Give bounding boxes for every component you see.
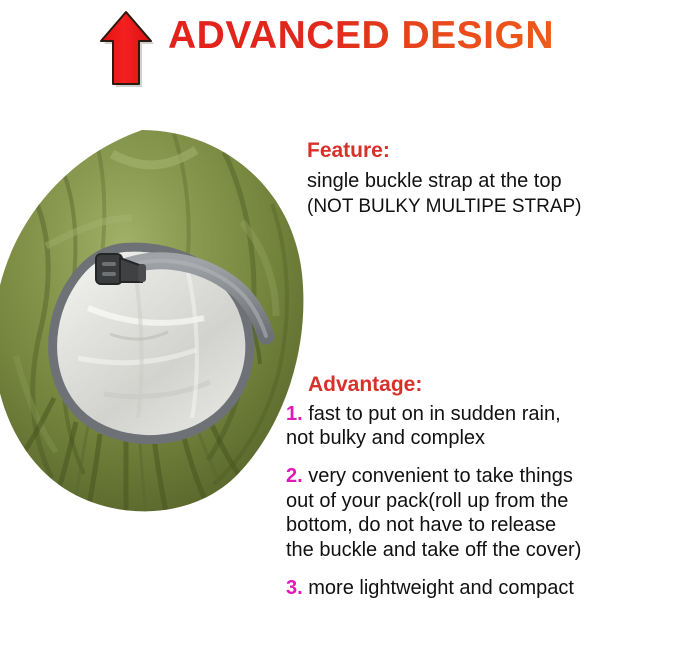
advantage-item-number: 3.: [286, 577, 303, 599]
header: ADVANCED DESIGN: [0, 0, 679, 100]
page-title: ADVANCED DESIGN: [168, 16, 554, 55]
feature-line-1: single buckle strap at the top: [307, 168, 675, 194]
advantage-item-number: 2.: [286, 465, 303, 487]
list-item: 2. very convenient to take things out of…: [286, 464, 679, 562]
up-arrow-icon: [98, 8, 154, 88]
feature-line-2: (NOT BULKY MULTIPE STRAP): [307, 194, 675, 219]
list-item: 3. more lightweight and compact: [286, 576, 679, 600]
advantage-item-line: not bulky and complex: [286, 427, 485, 449]
infographic-page: ADVANCED DESIGN: [0, 0, 679, 645]
product-image: [0, 126, 312, 514]
advantage-item-line: fast to put on in sudden rain,: [308, 403, 560, 425]
advantage-section: Advantage: 1. fast to put on in sudden r…: [286, 372, 679, 600]
feature-section: Feature: single buckle strap at the top …: [307, 138, 675, 219]
advantage-item-line: bottom, do not have to release: [286, 514, 556, 536]
feature-heading: Feature:: [307, 138, 675, 164]
list-item: 1. fast to put on in sudden rain, not bu…: [286, 402, 679, 451]
advantage-item-line: more lightweight and compact: [308, 577, 574, 599]
advantage-item-line: very convenient to take things: [308, 465, 573, 487]
advantage-item-line: out of your pack(roll up from the: [286, 490, 568, 512]
advantage-item-number: 1.: [286, 403, 303, 425]
advantage-item-line: the buckle and take off the cover): [286, 539, 581, 561]
advantage-heading: Advantage:: [308, 372, 679, 398]
